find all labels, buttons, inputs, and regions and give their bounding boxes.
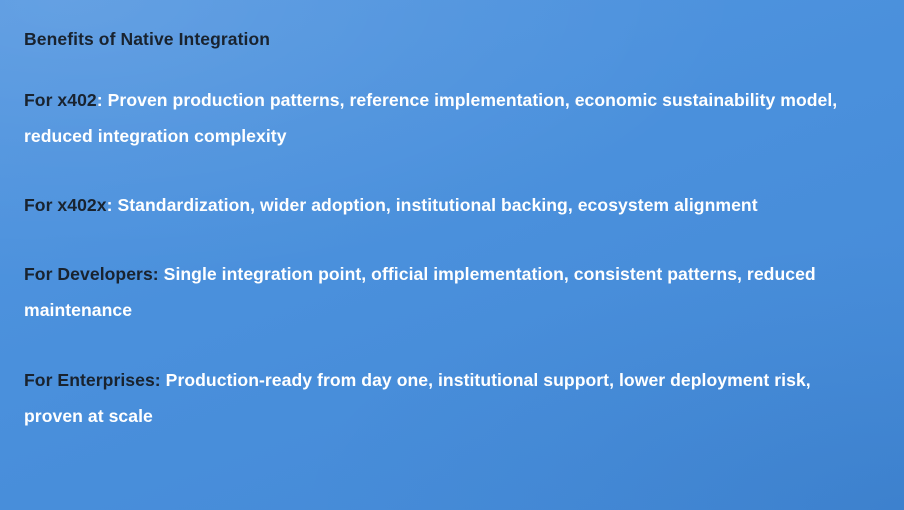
benefit-body-x402: Proven production patterns, reference im…	[24, 90, 837, 146]
benefit-label-x402x: For x402x	[24, 195, 107, 215]
benefit-separator-x402x: :	[107, 195, 118, 215]
benefit-body-x402x: Standardization, wider adoption, institu…	[117, 195, 757, 215]
benefit-paragraph-enterprises: For Enterprises: Production-ready from d…	[24, 362, 862, 434]
benefit-paragraph-x402x: For x402x: Standardization, wider adopti…	[24, 187, 862, 223]
slide-canvas: Benefits of Native Integration For x402:…	[0, 0, 904, 510]
benefit-label-developers: For Developers	[24, 264, 153, 284]
benefit-paragraph-x402: For x402: Proven production patterns, re…	[24, 82, 862, 154]
benefit-label-x402: For x402	[24, 90, 97, 110]
benefit-separator-x402: :	[97, 90, 108, 110]
slide-content: Benefits of Native Integration For x402:…	[22, 22, 862, 434]
benefit-separator-enterprises: :	[155, 370, 166, 390]
page-title: Benefits of Native Integration	[24, 22, 862, 50]
benefit-label-enterprises: For Enterprises	[24, 370, 155, 390]
benefit-paragraph-developers: For Developers: Single integration point…	[24, 256, 862, 328]
benefit-separator-developers: :	[153, 264, 164, 284]
